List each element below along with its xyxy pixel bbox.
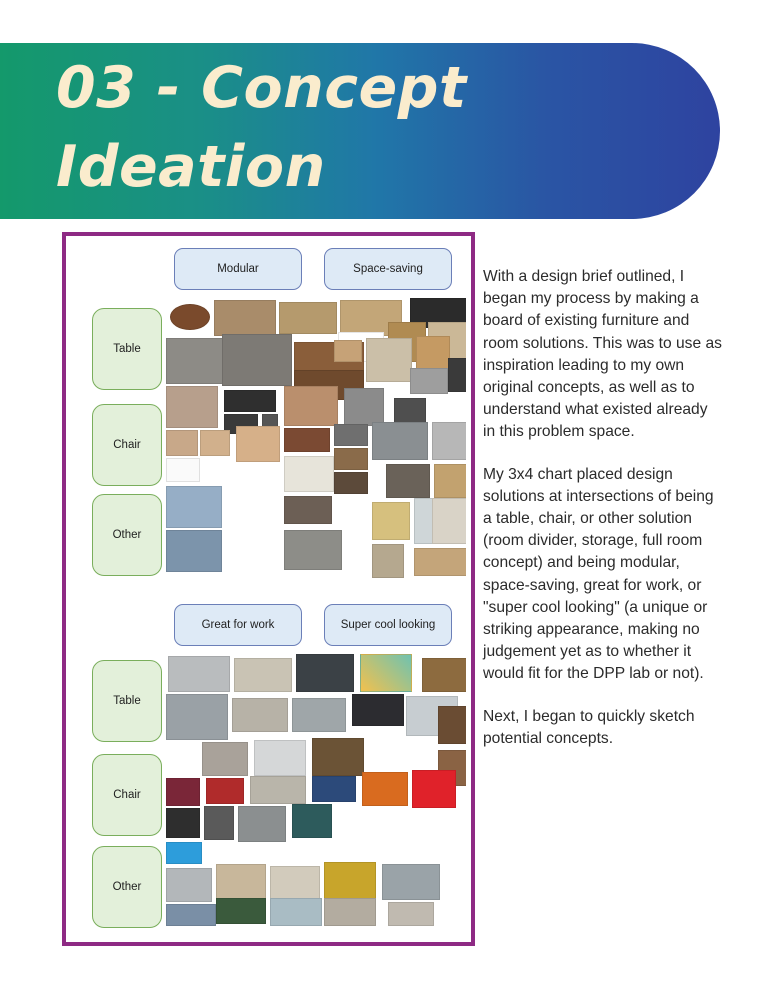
collage-top: [166, 298, 466, 588]
column-header-modular: Modular: [174, 248, 302, 290]
column-header-space-saving: Space-saving: [324, 248, 452, 290]
row-label-text: Chair: [113, 789, 140, 801]
column-header-label: Modular: [217, 263, 259, 275]
row-label-table-bottom: Table: [92, 660, 162, 742]
page-title: 03 - Concept Ideation: [56, 49, 656, 207]
column-header-super-cool-looking: Super cool looking: [324, 604, 452, 646]
column-header-label: Space-saving: [353, 263, 423, 275]
body-text-column: With a design brief outlined, I began my…: [483, 266, 723, 750]
row-label-text: Other: [113, 529, 142, 541]
row-label-other-top: Other: [92, 494, 162, 576]
row-label-other-bottom: Other: [92, 846, 162, 928]
row-label-text: Chair: [113, 439, 140, 451]
body-paragraph-1: With a design brief outlined, I began my…: [483, 266, 723, 444]
row-label-text: Table: [113, 343, 141, 355]
page-header-banner: 03 - Concept Ideation: [0, 43, 720, 219]
row-label-table-top: Table: [92, 308, 162, 390]
chart-inner: Modular Space-saving Table Chair Other: [66, 236, 471, 942]
column-header-label: Great for work: [202, 619, 275, 631]
collage-bottom: [166, 654, 466, 930]
body-paragraph-2: My 3x4 chart placed design solutions at …: [483, 464, 723, 686]
row-label-text: Table: [113, 695, 141, 707]
body-paragraph-3: Next, I began to quickly sketch potentia…: [483, 706, 723, 750]
row-label-text: Other: [113, 881, 142, 893]
column-header-great-for-work: Great for work: [174, 604, 302, 646]
column-header-label: Super cool looking: [341, 619, 436, 631]
inspiration-board-panel: Modular Space-saving Table Chair Other: [62, 232, 475, 946]
row-label-chair-bottom: Chair: [92, 754, 162, 836]
row-label-chair-top: Chair: [92, 404, 162, 486]
